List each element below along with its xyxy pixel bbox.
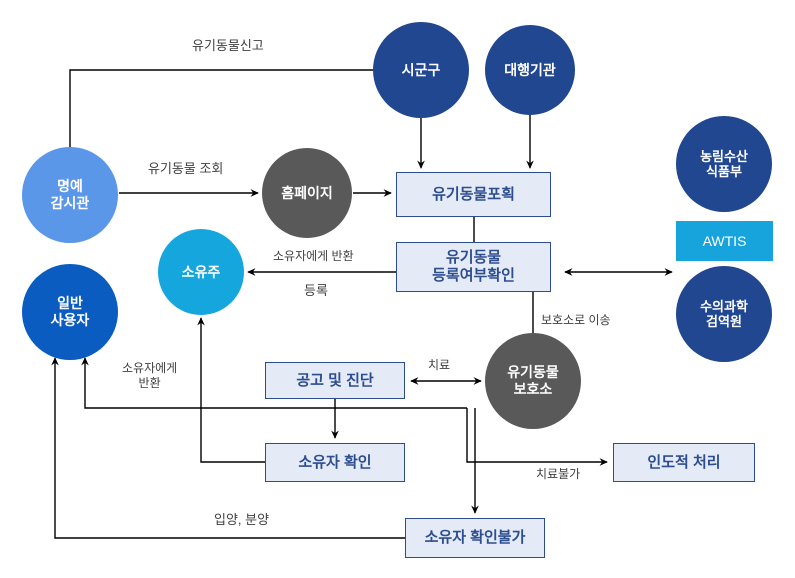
- node-euthanasia[interactable]: 인도적 처리: [613, 443, 755, 482]
- node-agency[interactable]: 대행기관: [485, 25, 575, 115]
- node-owner-confirm-label: 소유자 확인: [298, 454, 371, 472]
- node-owner-confirm[interactable]: 소유자 확인: [265, 443, 405, 482]
- diagram-canvas: 시군구 대행기관 명예 감시관 홈페이지 소유주 일반 사용자 유기동물 보호소…: [0, 0, 795, 578]
- node-capture[interactable]: 유기동물포획: [396, 172, 551, 217]
- node-notice-diagnosis-label: 공고 및 진단: [296, 372, 373, 390]
- node-homepage-label: 홈페이지: [281, 185, 333, 202]
- edge-label-no-treatment: 치료불가: [536, 467, 580, 481]
- node-general-user[interactable]: 일반 사용자: [22, 264, 118, 360]
- edge-label-return-owner-2: 소유자에게 반환: [122, 347, 177, 390]
- edge-label-report: 유기동물신고: [192, 38, 264, 54]
- node-shelter-label: 유기동물 보호소: [507, 364, 559, 397]
- node-general-user-label: 일반 사용자: [51, 295, 90, 328]
- node-agency-label: 대행기관: [504, 62, 556, 79]
- edge-label-return-owner-1: 소유자에게 반환: [273, 249, 354, 263]
- edge-label-transfer: 보호소로 이송: [541, 313, 611, 327]
- node-sigungu-label: 시군구: [402, 62, 441, 79]
- edge-label-lookup: 유기동물 조회: [148, 161, 223, 177]
- node-owner-unknown[interactable]: 소유자 확인불가: [405, 518, 545, 558]
- node-euthanasia-label: 인도적 처리: [647, 454, 720, 472]
- edge-label-treatment: 치료: [428, 358, 450, 372]
- wire-report: [70, 70, 373, 147]
- node-mafra[interactable]: 농림수산 식품부: [676, 116, 772, 212]
- node-homepage[interactable]: 홈페이지: [262, 148, 352, 238]
- node-honorary-supervisor[interactable]: 명예 감시관: [22, 147, 118, 243]
- node-awtis-label: AWTIS: [703, 233, 747, 250]
- node-registration-check[interactable]: 유기동물 등록여부확인: [396, 242, 551, 292]
- node-sigungu[interactable]: 시군구: [373, 22, 469, 118]
- edge-label-adoption: 입양, 분양: [214, 512, 269, 528]
- node-mafra-label: 농림수산 식품부: [700, 149, 748, 180]
- node-shelter[interactable]: 유기동물 보호소: [485, 333, 581, 429]
- node-owner[interactable]: 소유주: [158, 229, 244, 315]
- wire-ownerconfirm-owner: [201, 318, 265, 462]
- node-qia[interactable]: 수의과학 검역원: [676, 266, 772, 362]
- node-awtis[interactable]: AWTIS: [676, 221, 773, 261]
- node-qia-label: 수의과학 검역원: [700, 299, 748, 330]
- node-honorary-supervisor-label: 명예 감시관: [51, 178, 90, 211]
- node-capture-label: 유기동물포획: [432, 186, 515, 204]
- node-registration-check-label: 유기동물 등록여부확인: [432, 249, 515, 284]
- node-owner-label: 소유주: [182, 264, 221, 281]
- node-owner-unknown-label: 소유자 확인불가: [425, 529, 526, 547]
- edge-label-register: 등록: [304, 283, 328, 299]
- node-notice-diagnosis[interactable]: 공고 및 진단: [265, 362, 405, 399]
